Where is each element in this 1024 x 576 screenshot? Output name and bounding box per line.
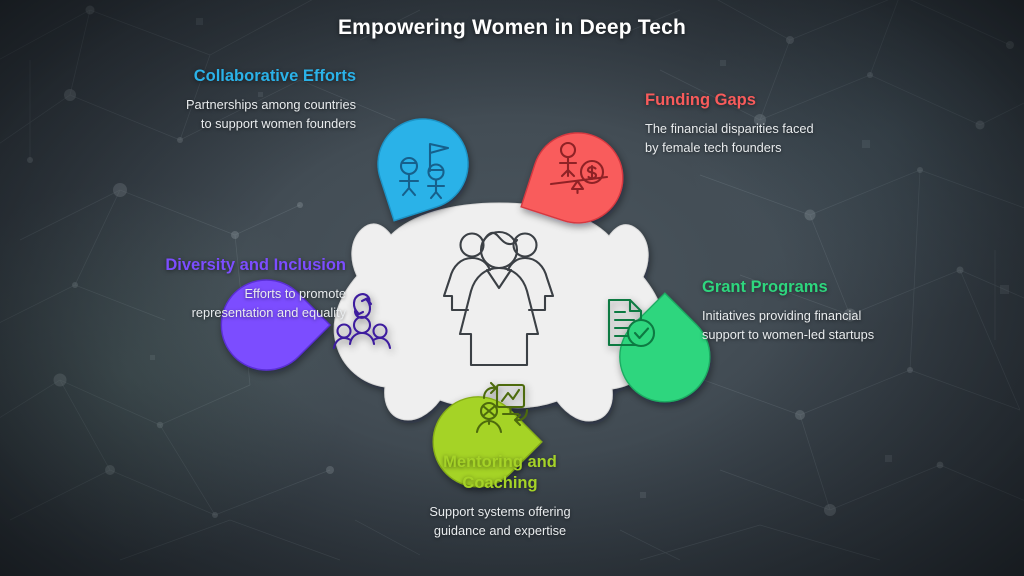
label-grant-programs: Grant Programs Initiatives providing fin… bbox=[702, 277, 882, 345]
label-diversity-and-inclusion: Diversity and Inclusion Efforts to promo… bbox=[165, 255, 346, 323]
heading-grant-programs: Grant Programs bbox=[702, 277, 882, 298]
body-collaborative-efforts: Partnerships among countries to support … bbox=[181, 96, 356, 134]
heading-mentoring-and-coaching: Mentoring and Coaching bbox=[410, 452, 590, 494]
heading-funding-gaps: Funding Gaps bbox=[645, 90, 825, 111]
body-funding-gaps: The financial disparities faced by femal… bbox=[645, 120, 825, 158]
teardrop-blue bbox=[366, 107, 479, 220]
label-funding-gaps: Funding Gaps The financial disparities f… bbox=[645, 90, 825, 158]
label-collaborative-efforts: Collaborative Efforts Partnerships among… bbox=[181, 66, 356, 134]
body-mentoring-and-coaching: Support systems offering guidance and ex… bbox=[410, 503, 590, 541]
heading-diversity-and-inclusion: Diversity and Inclusion bbox=[165, 255, 346, 276]
body-grant-programs: Initiatives providing financial support … bbox=[702, 307, 882, 345]
node-collaborative-efforts[interactable] bbox=[366, 107, 479, 220]
label-mentoring-and-coaching: Mentoring and Coaching Support systems o… bbox=[410, 452, 590, 541]
heading-collaborative-efforts: Collaborative Efforts bbox=[181, 66, 356, 87]
body-diversity-and-inclusion: Efforts to promote representation and eq… bbox=[165, 285, 346, 323]
